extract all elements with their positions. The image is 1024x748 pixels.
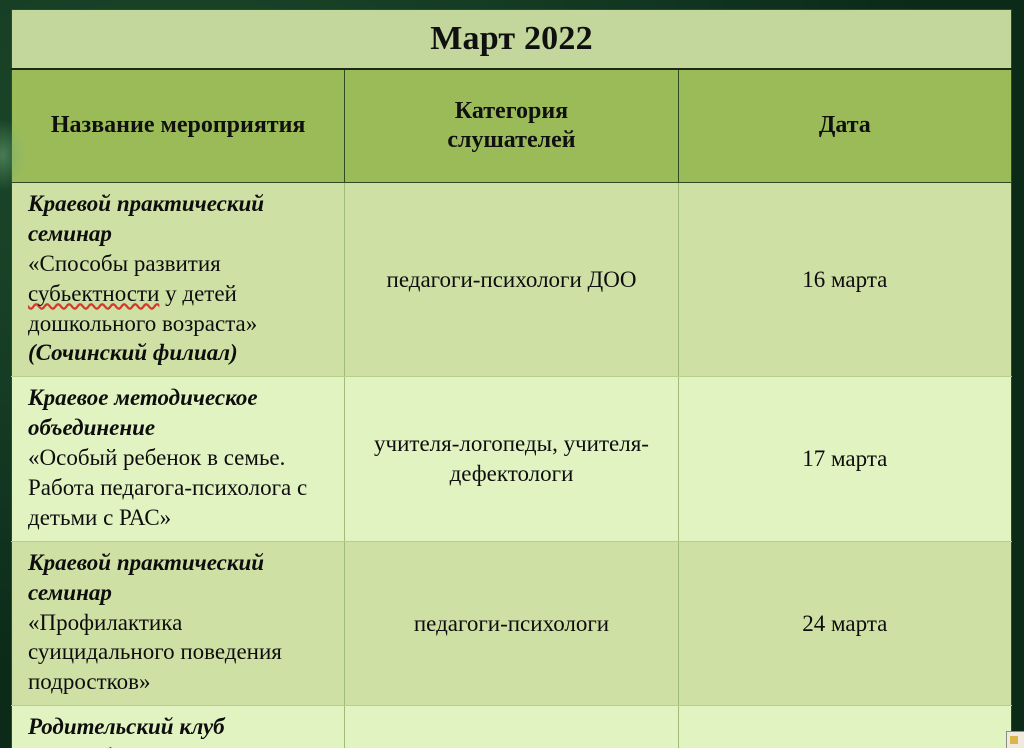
table-row: Краевой практический семинар «Способы ра… — [12, 183, 1012, 377]
cell-event-name: Краевой практический семинар «Способы ра… — [12, 183, 345, 377]
header-row: Название мероприятия Категория слушателе… — [12, 69, 1012, 183]
event-subtitle-pre: «Способы коррекции нежелательного поведе… — [28, 744, 303, 748]
schedule-table-container: Март 2022 Название мероприятия Категория… — [11, 9, 1012, 735]
cell-audience: родители — [345, 706, 678, 748]
event-note: (Сочинский филиал) — [28, 340, 238, 365]
schedule-table: Март 2022 Название мероприятия Категория… — [11, 9, 1012, 748]
table-row: Краевое методическое объединение «Особый… — [12, 377, 1012, 541]
page-title: Март 2022 — [12, 10, 1012, 70]
column-header-event-name: Название мероприятия — [12, 69, 345, 183]
cell-event-name: Краевой практический семинар «Профилакти… — [12, 541, 345, 705]
cell-audience: учителя-логопеды, учителя-дефектологи — [345, 377, 678, 541]
table-row: Краевой практический семинар «Профилакти… — [12, 541, 1012, 705]
slide: Март 2022 Название мероприятия Категория… — [0, 0, 1024, 748]
table-body: Краевой практический семинар «Способы ра… — [12, 183, 1012, 748]
title-row: Март 2022 — [12, 10, 1012, 70]
table-head: Март 2022 Название мероприятия Категория… — [12, 10, 1012, 183]
cell-date: 24 марта — [678, 541, 1011, 705]
event-title: Краевое методическое объединение — [28, 383, 330, 443]
cell-date: 17 марта — [678, 377, 1011, 541]
event-title: Родительский клуб — [28, 712, 330, 742]
event-subtitle-misspelled: субьектности — [28, 281, 159, 306]
event-subtitle-pre: «Способы развития — [28, 251, 221, 276]
table-row: Родительский клуб «Способы коррекции неж… — [12, 706, 1012, 748]
column-header-audience-line1: Категория — [455, 98, 568, 124]
cell-event-name: Краевое методическое объединение «Особый… — [12, 377, 345, 541]
event-title: Краевой практический семинар — [28, 189, 330, 249]
cell-audience: педагоги-психологи ДОО — [345, 183, 678, 377]
cell-event-name: Родительский клуб «Способы коррекции неж… — [12, 706, 345, 748]
column-header-date: Дата — [678, 69, 1011, 183]
event-title: Краевой практический семинар — [28, 548, 330, 608]
event-subtitle-pre: «Профилактика суицидального поведения по… — [28, 610, 282, 695]
cell-date: 16 марта — [678, 183, 1011, 377]
event-subtitle-pre: «Особый ребенок в семье. Работа педагога… — [28, 445, 307, 530]
column-header-audience-line2: слушателей — [447, 127, 575, 153]
column-header-audience: Категория слушателей — [345, 69, 678, 183]
cell-audience: педагоги-психологи — [345, 541, 678, 705]
corner-artifact-icon — [1006, 731, 1024, 748]
cell-date: 24 марта — [678, 706, 1011, 748]
